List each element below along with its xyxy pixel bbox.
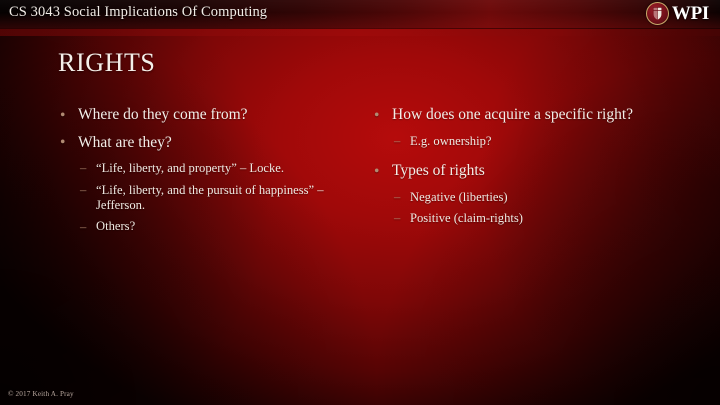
sub-bullet-item: – Negative (liberties) [372, 190, 662, 205]
sub-bullet-text: Negative (liberties) [410, 190, 508, 204]
wpi-wordmark: WPI [672, 4, 709, 23]
bullet-marker-icon: • [374, 107, 379, 126]
bullet-text: Types of rights [392, 162, 485, 179]
sub-bullet-text: “Life, liberty, and the pursuit of happi… [96, 183, 324, 212]
bullet-text: How does one acquire a specific right? [392, 106, 633, 123]
wpi-logo: WPI [646, 1, 709, 26]
sub-bullet-item: – “Life, liberty, and the pursuit of hap… [58, 183, 358, 214]
header-underglow [0, 28, 720, 36]
dash-marker-icon: – [80, 161, 86, 176]
dash-marker-icon: – [394, 211, 400, 226]
bullet-item: • How does one acquire a specific right? [372, 106, 662, 125]
content-column-right: • How does one acquire a specific right?… [372, 106, 662, 232]
bullet-item: • What are they? [58, 134, 358, 153]
sub-bullet-item: – “Life, liberty, and property” – Locke. [58, 161, 358, 176]
dash-marker-icon: – [394, 134, 400, 149]
dash-marker-icon: – [394, 190, 400, 205]
sub-bullet-text: “Life, liberty, and property” – Locke. [96, 161, 284, 175]
slide-title: RIGHTS [58, 48, 156, 78]
sub-bullet-text: E.g. ownership? [410, 134, 492, 148]
slide-header-bar: CS 3043 Social Implications Of Computing [0, 0, 720, 28]
wpi-seal-icon [646, 2, 669, 25]
sub-bullet-item: – Positive (claim-rights) [372, 211, 662, 226]
bullet-marker-icon: • [60, 107, 65, 126]
presentation-slide: CS 3043 Social Implications Of Computing… [0, 0, 720, 405]
sub-bullet-text: Positive (claim-rights) [410, 211, 523, 225]
bullet-text: What are they? [78, 134, 172, 151]
sub-bullet-text: Others? [96, 219, 135, 233]
dash-marker-icon: – [80, 220, 86, 235]
bullet-marker-icon: • [60, 134, 65, 153]
sub-bullet-item: – Others? [58, 219, 358, 234]
sub-bullet-item: – E.g. ownership? [372, 134, 662, 149]
dash-marker-icon: – [80, 183, 86, 198]
content-column-left: • Where do they come from? • What are th… [58, 106, 358, 241]
course-title: CS 3043 Social Implications Of Computing [9, 4, 267, 21]
bullet-text: Where do they come from? [78, 106, 248, 123]
copyright-footer: © 2017 Keith A. Pray [8, 390, 74, 398]
bullet-item: • Types of rights [372, 162, 662, 181]
bullet-item: • Where do they come from? [58, 106, 358, 125]
bullet-marker-icon: • [374, 163, 379, 182]
